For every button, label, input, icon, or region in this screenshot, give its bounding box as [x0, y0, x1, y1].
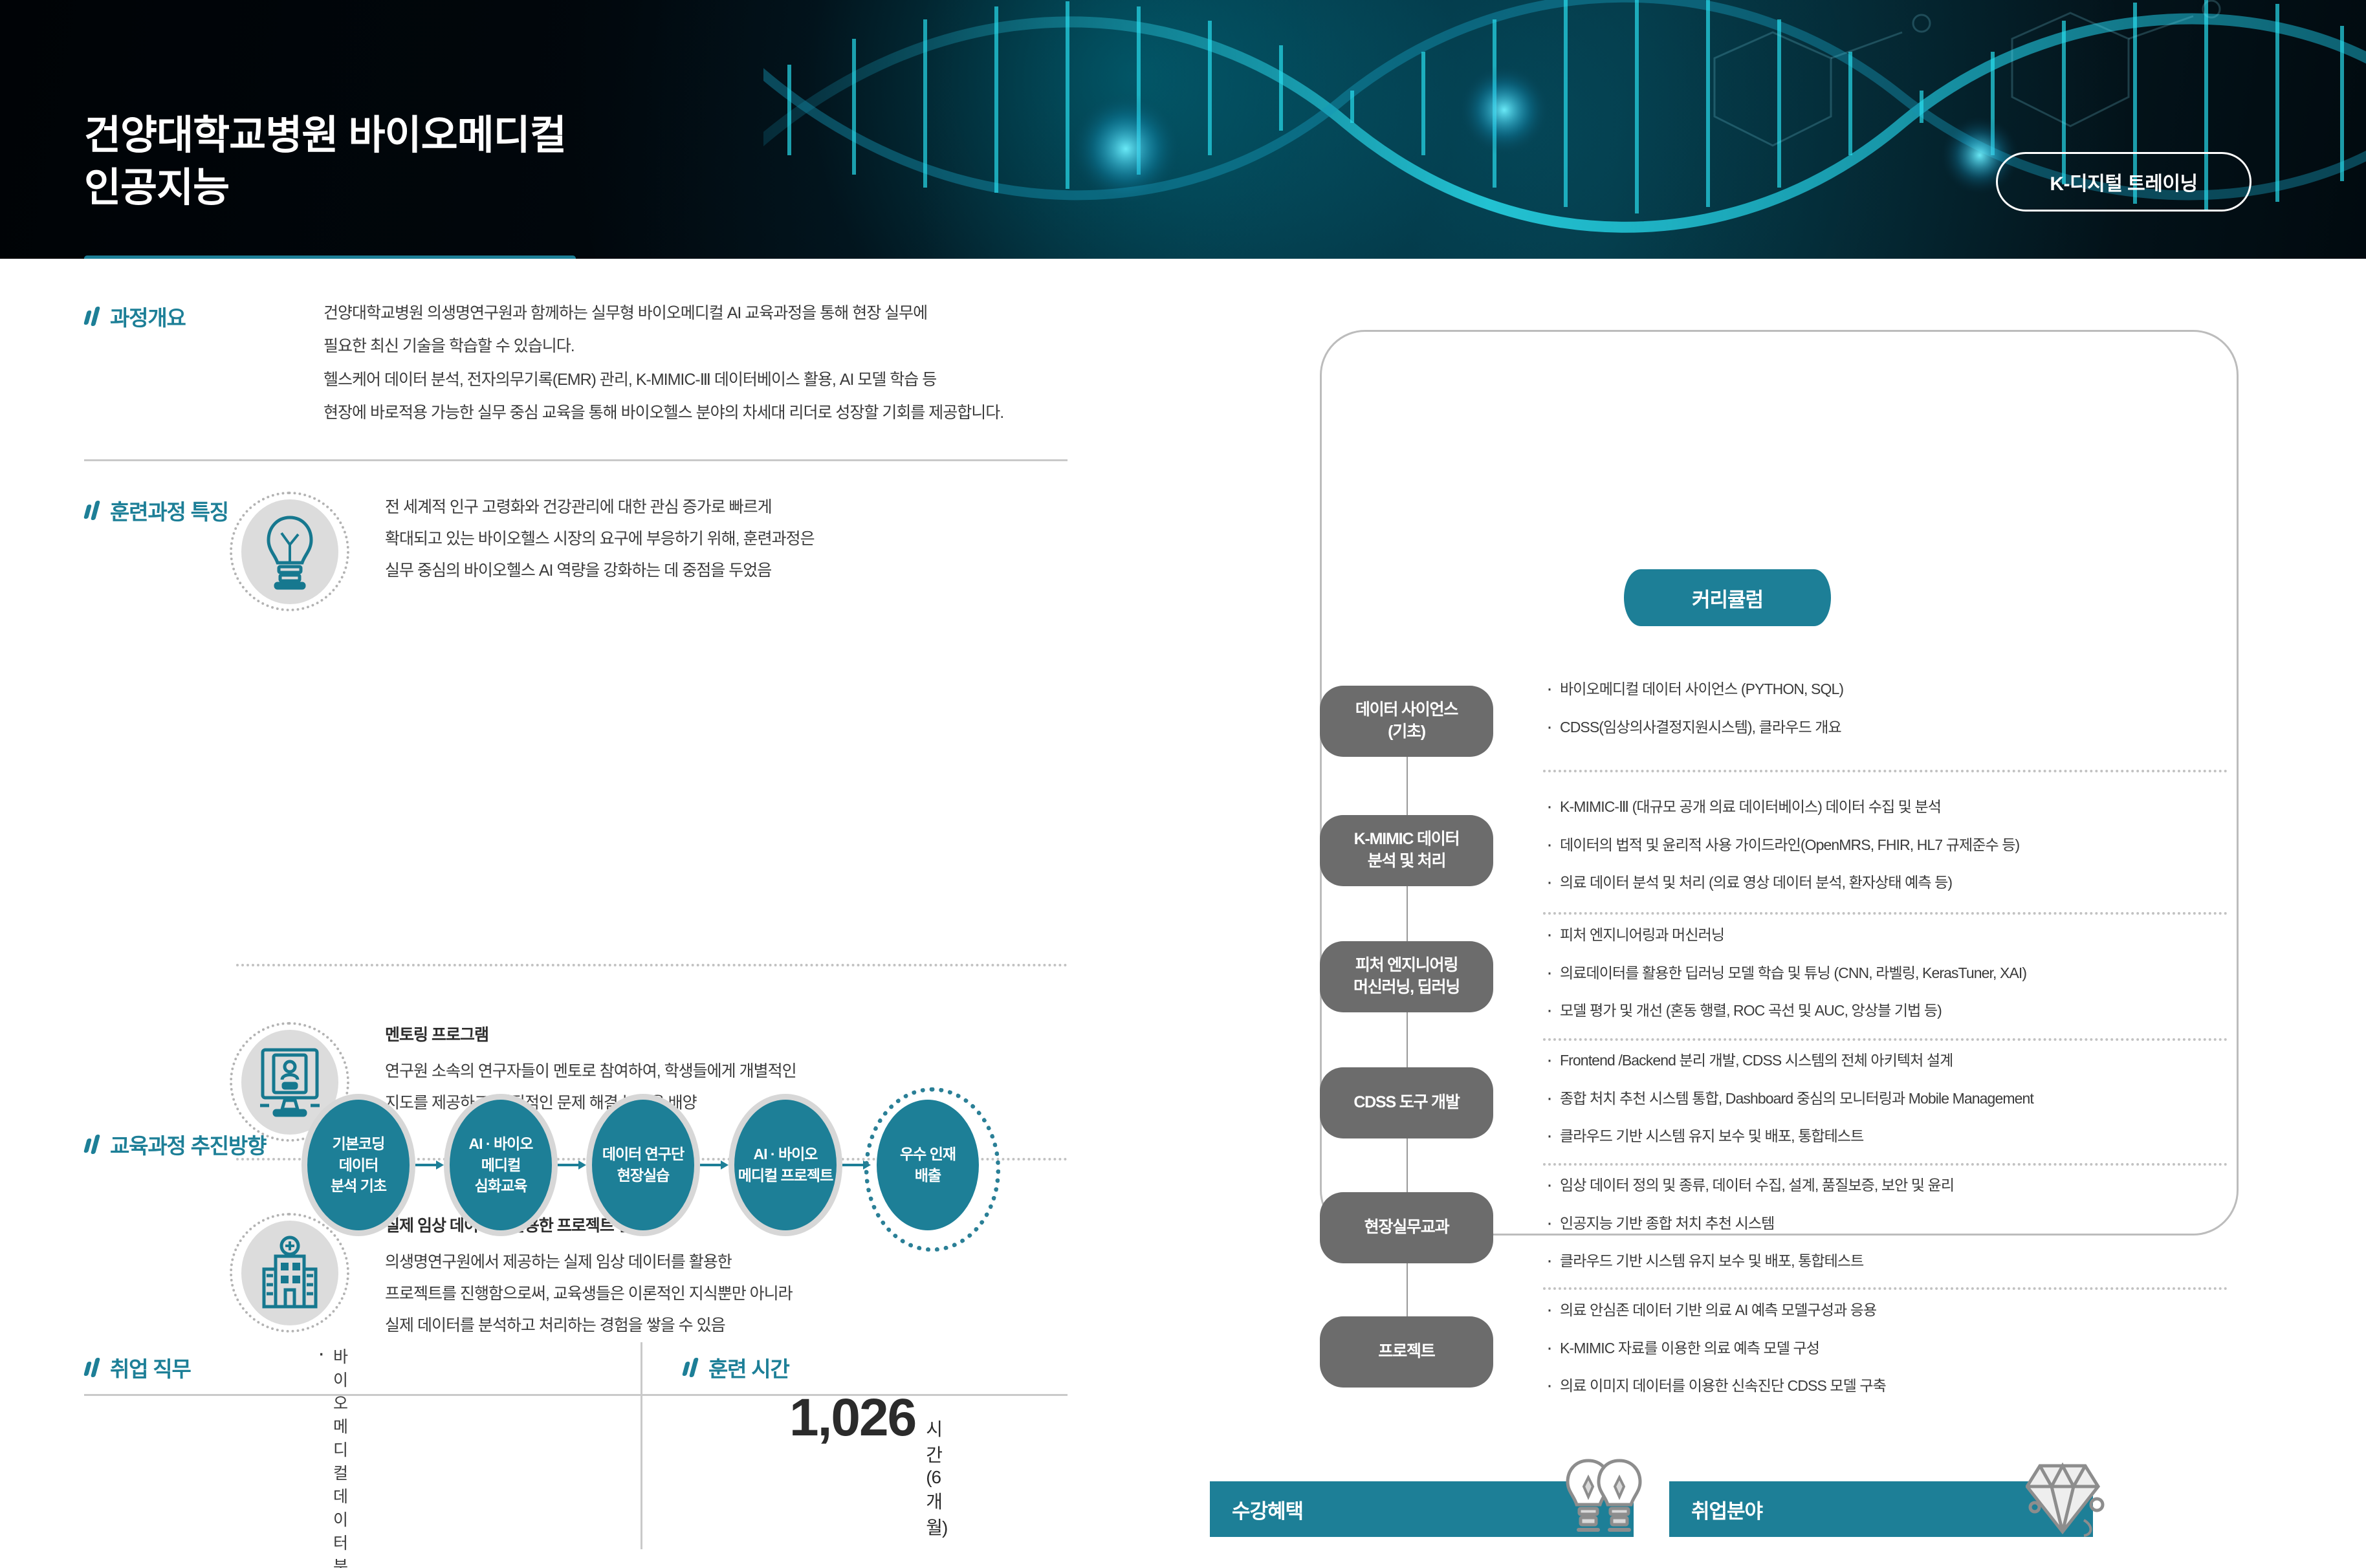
curriculum-stage-2[interactable]: K-MIMIC 데이터 분석 및 처리 — [1320, 815, 1493, 886]
direction-step-5[interactable]: 우수 인재 배출 — [877, 1100, 979, 1230]
stage-line: 현장실무교과 — [1364, 1217, 1449, 1239]
direction-heading: 교육과정 추진방향 — [84, 1129, 266, 1160]
bullet: Frontend /Backend 분리 개발, CDSS 시스템의 전체 아키… — [1543, 1049, 2222, 1072]
row-divider — [1543, 1038, 2228, 1041]
overview-text: 건양대학교병원 의생명연구원과 함께하는 실무형 바이오메디컬 AI 교육과정을… — [323, 297, 1158, 430]
benefits-card: 수강혜택 협력기업: 건양대학교병원 의생명연구원 멘토링 지원 — [1210, 1481, 1634, 1568]
hours-section: 훈련 시간 1,026 시간 (6개월) — [683, 1352, 789, 1383]
stage-line: CDSS 도구 개발 — [1353, 1092, 1459, 1114]
right-page: 커리큘럼 데이터 사이언스 (기초) 바이오메디컬 데이터 사이언스 (PYTH… — [1184, 259, 2366, 1568]
stage-line: 피처 엔지니어링 — [1355, 955, 1458, 977]
direction-step-4[interactable]: AI · 바이오 메디컬 프로젝트 — [734, 1100, 837, 1230]
direction-step-3[interactable]: 데이터 연구단 현장실습 — [592, 1100, 694, 1230]
overview-heading-label: 과정개요 — [110, 301, 186, 332]
curriculum-stage-5[interactable]: 현장실무교과 — [1320, 1192, 1493, 1263]
features-heading-label: 훈련과정 특징 — [110, 495, 228, 526]
brochure-page: 건양대학교병원 바이오메디컬 인공지능 K-디지털 트레이닝 과정개요 건양대학… — [0, 0, 2366, 1568]
flow-arrow-icon — [694, 1159, 734, 1171]
title-line-1: 건양대학교병원 바이오메디컬 — [84, 110, 566, 162]
lightbulb-icon — [230, 492, 349, 611]
features-section: 훈련과정 특징 — [84, 495, 228, 526]
heading-marker-icon — [84, 305, 101, 327]
step-line: 데이터 연구단 — [602, 1144, 684, 1165]
step-line: 기본코딩 — [333, 1133, 385, 1155]
feature-item: 실제 임상 데이터를 활용한 프로젝트 진행 의생명연구원에서 제공하는 실제 … — [230, 1213, 793, 1341]
bullet: K-MIMIC-Ⅲ (대규모 공개 의료 데이터베이스) 데이터 수집 및 분석 — [1543, 796, 2222, 818]
features-heading: 훈련과정 특징 — [84, 495, 228, 526]
bullet: 피처 엔지니어링과 머신러닝 — [1543, 924, 2222, 946]
bullet: 의료 데이터 분석 및 처리 (의료 영상 데이터 분석, 환자상태 예측 등) — [1543, 871, 2222, 894]
stage-line: 머신러닝, 딥러닝 — [1353, 977, 1460, 999]
heading-marker-icon — [84, 1133, 101, 1155]
bullet: 의료 안심존 데이터 기반 의료 AI 예측 모델구성과 응용 — [1543, 1299, 2222, 1322]
step-line: 분석 기초 — [331, 1175, 386, 1197]
fields-title: 취업분야 — [1691, 1495, 1762, 1524]
curriculum-bullets-3: 피처 엔지니어링과 머신러닝 의료데이터를 활용한 딥러닝 모델 학습 및 튜닝… — [1543, 924, 2222, 1038]
row-divider — [1543, 912, 2228, 915]
step-line: AI · 바이오 — [754, 1144, 818, 1165]
flow-arrow-icon — [552, 1159, 592, 1171]
stage-line: K-MIMIC 데이터 — [1354, 829, 1460, 851]
hours-value: 1,026 시간 (6개월) — [789, 1388, 947, 1540]
vertical-divider — [641, 1342, 642, 1549]
step-line: 데이터 — [339, 1155, 378, 1176]
bullet: 임상 데이터 정의 및 종류, 데이터 수집, 설계, 품질보증, 보안 및 윤… — [1543, 1174, 2222, 1197]
step-line: 배출 — [915, 1165, 941, 1186]
feature-line: 의생명연구원에서 제공하는 실제 임상 데이터를 활용한 — [385, 1247, 793, 1278]
curriculum-title-pill: 커리큘럼 — [1624, 569, 1831, 626]
curriculum-bullets-1: 바이오메디컬 데이터 사이언스 (PYTHON, SQL) CDSS(임상의사결… — [1543, 678, 2222, 754]
jobs-list: 바이오메디컬 데이터 분석가, AI연구원 AI 모델 개발 및 최적화 전문가… — [314, 1344, 358, 1568]
stage-line: 분석 및 처리 — [1368, 851, 1446, 873]
fields-card: 취업분야 의료 및 헬스케어 IT기업, 병원, 의료 기관 데이터 연구소 제… — [1669, 1481, 2093, 1568]
step-line: 현장실습 — [617, 1165, 670, 1186]
feature-item: 전 세계적 인구 고령화와 건강관리에 대한 관심 증가로 빠르게 확대되고 있… — [230, 492, 815, 611]
stage-line: 데이터 사이언스 — [1355, 699, 1458, 721]
lightbulbs-icon — [1562, 1455, 1645, 1540]
overview-line: 헬스케어 데이터 분석, 전자의무기록(EMR) 관리, K-MIMIC-Ⅲ 데… — [323, 364, 1158, 397]
direction-section: 교육과정 추진방향 기본코딩 데이터 분석 기초 AI · 바이오 메디컬 심화… — [84, 1129, 266, 1160]
bullet: 클라우드 기반 시스템 유지 보수 및 배포, 통합테스트 — [1543, 1125, 2222, 1148]
feature-line: 실무 중심의 바이오헬스 AI 역량을 강화하는 데 중점을 두었음 — [385, 555, 815, 587]
row-divider — [1543, 1163, 2228, 1166]
heading-marker-icon — [84, 499, 101, 521]
page-title: 건양대학교병원 바이오메디컬 인공지능 — [84, 110, 566, 214]
curriculum-bullets-5: 임상 데이터 정의 및 종류, 데이터 수집, 설계, 품질보증, 보안 및 윤… — [1543, 1174, 2222, 1288]
divider — [84, 459, 1068, 461]
bullet: CDSS(임상의사결정지원시스템), 클라우드 개요 — [1543, 716, 2222, 739]
left-page: 과정개요 건양대학교병원 의생명연구원과 함께하는 실무형 바이오메디컬 AI … — [0, 259, 1158, 1568]
hospital-icon — [230, 1213, 349, 1333]
curriculum-bullets-2: K-MIMIC-Ⅲ (대규모 공개 의료 데이터베이스) 데이터 수집 및 분석… — [1543, 796, 2222, 909]
feature-title: 멘토링 프로그램 — [385, 1022, 796, 1045]
step-line: 메디컬 — [481, 1155, 520, 1176]
stage-line: 프로젝트 — [1378, 1341, 1434, 1363]
divider-dotted — [236, 964, 1068, 966]
feature-text: 전 세계적 인구 고령화와 건강관리에 대한 관심 증가로 빠르게 확대되고 있… — [385, 492, 815, 586]
dna-helix-graphic — [763, 0, 2366, 259]
row-divider — [1543, 770, 2228, 772]
hours-heading: 훈련 시간 — [683, 1352, 789, 1383]
feature-line: 실제 데이터를 분석하고 처리하는 경험을 쌓을 수 있음 — [385, 1310, 793, 1342]
curriculum-stage-4[interactable]: CDSS 도구 개발 — [1320, 1067, 1493, 1138]
jobs-section: 취업 직무 바이오메디컬 데이터 분석가, AI연구원 AI 모델 개발 및 최… — [84, 1352, 191, 1383]
bullet: 모델 평가 및 개선 (혼동 행렬, ROC 곡선 및 AUC, 앙상블 기법 … — [1543, 999, 2222, 1022]
curriculum-bullets-6: 의료 안심존 데이터 기반 의료 AI 예측 모델구성과 응용 K-MIMIC … — [1543, 1299, 2222, 1413]
jobs-heading-label: 취업 직무 — [110, 1352, 191, 1383]
k-digital-training-badge[interactable]: K-디지털 트레이닝 — [1996, 152, 2251, 212]
stage-line: (기초) — [1388, 721, 1425, 743]
heading-marker-icon — [683, 1356, 699, 1378]
bullet: 클라우드 기반 시스템 유지 보수 및 배포, 통합테스트 — [1543, 1250, 2222, 1272]
feature-line: 전 세계적 인구 고령화와 건강관리에 대한 관심 증가로 빠르게 — [385, 492, 815, 523]
title-line-2: 인공지능 — [84, 162, 566, 215]
overview-line: 현장에 바로적용 가능한 실무 중심 교육을 통해 바이오헬스 분야의 차세대 … — [323, 397, 1158, 430]
feature-line: 연구원 소속의 연구자들이 멘토로 참여하여, 학생들에게 개별적인 — [385, 1056, 796, 1087]
hours-heading-label: 훈련 시간 — [708, 1352, 789, 1383]
bullet: 인공지능 기반 종합 처치 추천 시스템 — [1543, 1212, 2222, 1235]
step-line: AI · 바이오 — [469, 1133, 533, 1155]
feature-text: 실제 임상 데이터를 활용한 프로젝트 진행 의생명연구원에서 제공하는 실제 … — [385, 1213, 793, 1341]
direction-flow: 기본코딩 데이터 분석 기초 AI · 바이오 메디컬 심화교육 데이터 연구단 — [307, 1100, 979, 1230]
curriculum-stage-6[interactable]: 프로젝트 — [1320, 1316, 1493, 1388]
bullet: 종합 처치 추천 시스템 통합, Dashboard 중심의 모니터링과 Mob… — [1543, 1087, 2222, 1110]
benefits-list: 협력기업: 건양대학교병원 의생명연구원 멘토링 지원 수강료, 교재 무상 지… — [1210, 1537, 1634, 1568]
curriculum-stage-3[interactable]: 피처 엔지니어링 머신러닝, 딥러닝 — [1320, 941, 1493, 1012]
curriculum-bullets-4: Frontend /Backend 분리 개발, CDSS 시스템의 전체 아키… — [1543, 1049, 2222, 1163]
feature-line: 확대되고 있는 바이오헬스 시장의 요구에 부응하기 위해, 훈련과정은 — [385, 523, 815, 555]
step-line: 우수 인재 — [900, 1144, 956, 1165]
page-header: 건양대학교병원 바이오메디컬 인공지능 K-디지털 트레이닝 — [0, 0, 2366, 259]
bullet: 의료데이터를 활용한 딥러닝 모델 학습 및 튜닝 (CNN, 라벨링, Ker… — [1543, 962, 2222, 985]
step-line: 메디컬 프로젝트 — [738, 1165, 833, 1186]
direction-heading-label: 교육과정 추진방향 — [110, 1129, 266, 1160]
benefits-title: 수강혜택 — [1232, 1495, 1303, 1524]
flow-arrow-icon — [410, 1159, 450, 1171]
fields-list: 의료 및 헬스케어 IT기업, 병원, 의료 기관 데이터 연구소 제약 및 생… — [1669, 1537, 2093, 1568]
feature-line: 프로젝트를 진행함으로써, 교육생들은 이론적인 지식뿐만 아니라 — [385, 1278, 793, 1310]
hours-unit: 시간 (6개월) — [926, 1415, 947, 1540]
bullet: 바이오메디컬 데이터 사이언스 (PYTHON, SQL) — [1543, 678, 2222, 701]
direction-step-2[interactable]: AI · 바이오 메디컬 심화교육 — [450, 1100, 552, 1230]
direction-step-1[interactable]: 기본코딩 데이터 분석 기초 — [307, 1100, 410, 1230]
hours-number: 1,026 — [789, 1388, 915, 1448]
heading-marker-icon — [84, 1356, 101, 1378]
bullet: 의료 이미지 데이터를 이용한 신속진단 CDSS 모델 구축 — [1543, 1375, 2222, 1397]
bullet: K-MIMIC 자료를 이용한 의료 예측 모델 구성 — [1543, 1337, 2222, 1360]
row-divider — [1543, 1287, 2228, 1290]
curriculum-stage-1[interactable]: 데이터 사이언스 (기초) — [1320, 686, 1493, 757]
overview-section: 과정개요 건양대학교병원 의생명연구원과 함께하는 실무형 바이오메디컬 AI … — [84, 301, 186, 332]
overview-line: 필요한 최신 기술을 학습할 수 있습니다. — [323, 330, 1158, 363]
bullet: 데이터의 법적 및 윤리적 사용 가이드라인(OpenMRS, FHIR, HL… — [1543, 834, 2222, 856]
jobs-heading: 취업 직무 — [84, 1352, 191, 1383]
step-line: 심화교육 — [475, 1175, 527, 1197]
list-item: 바이오메디컬 데이터 분석가, AI연구원 — [314, 1344, 358, 1568]
diamond-icon — [2026, 1455, 2105, 1540]
overview-line: 건양대학교병원 의생명연구원과 함께하는 실무형 바이오메디컬 AI 교육과정을… — [323, 297, 1158, 330]
overview-heading: 과정개요 — [84, 301, 186, 332]
